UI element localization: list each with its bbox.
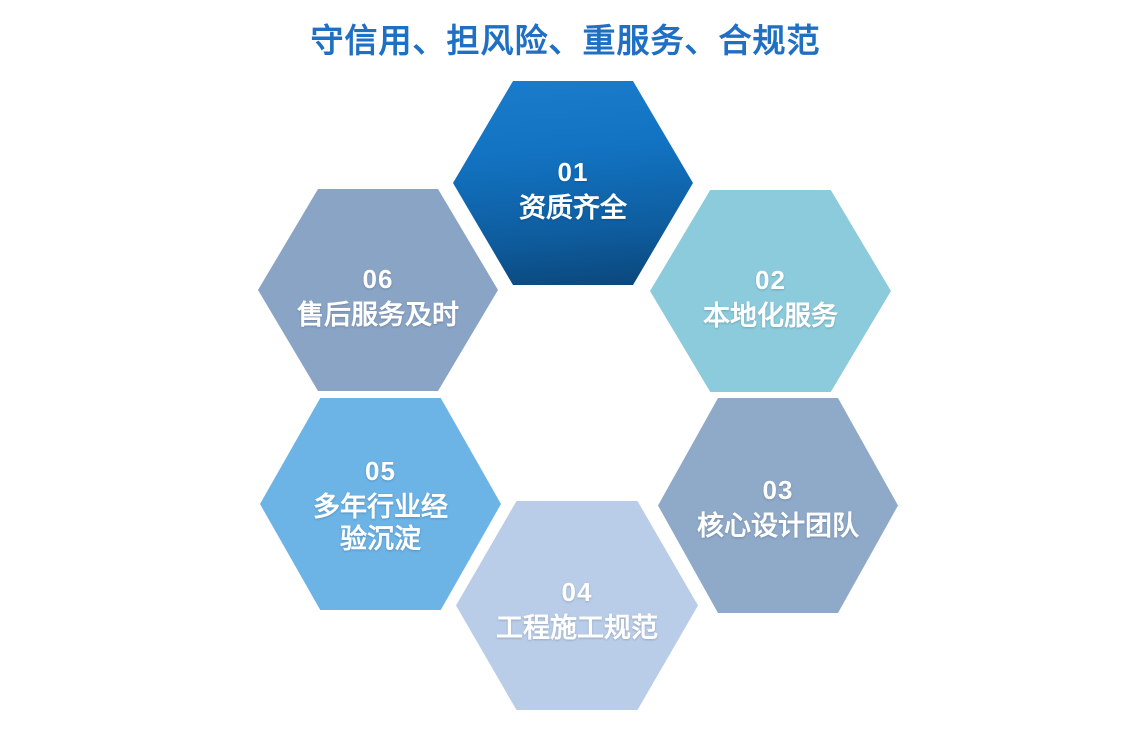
hexagon-item-06[interactable]: 06 售后服务及时: [258, 189, 498, 391]
page-title: 守信用、担风险、重服务、合规范: [0, 14, 1131, 62]
hexagon-number-02: 02: [755, 266, 786, 296]
hexagon-item-05[interactable]: 05 多年行业经 验沉淀: [260, 398, 501, 610]
hexagon-content-02: 02 本地化服务: [650, 266, 891, 332]
hexagon-number-03: 03: [763, 476, 794, 506]
hexagon-content-01: 01 资质齐全: [453, 158, 693, 224]
hexagon-label-04: 工程施工规范: [496, 612, 658, 644]
hexagon-content-05: 05 多年行业经 验沉淀: [260, 457, 501, 556]
hexagon-content-04: 04 工程施工规范: [456, 578, 698, 644]
hexagon-content-06: 06 售后服务及时: [258, 265, 498, 331]
hexagon-number-05: 05: [365, 457, 396, 487]
hexagon-label-01: 资质齐全: [519, 192, 627, 224]
hexagon-number-04: 04: [562, 578, 593, 608]
hexagon-number-06: 06: [363, 265, 394, 295]
hexagon-number-01: 01: [558, 158, 589, 188]
hexagon-item-02[interactable]: 02 本地化服务: [650, 190, 891, 392]
hexagon-label-06: 售后服务及时: [297, 299, 459, 331]
hexagon-content-03: 03 核心设计团队: [658, 476, 898, 542]
hexagon-item-03[interactable]: 03 核心设计团队: [658, 398, 898, 613]
hexagon-label-05: 多年行业经 验沉淀: [313, 491, 448, 556]
hexagon-label-03: 核心设计团队: [697, 510, 859, 542]
hexagon-item-04[interactable]: 04 工程施工规范: [456, 501, 698, 710]
hexagon-item-01[interactable]: 01 资质齐全: [453, 81, 693, 285]
hexagon-label-02: 本地化服务: [703, 300, 838, 332]
slide-canvas: 守信用、担风险、重服务、合规范 01 资质齐全 02 本地化服务 03 核心设计…: [0, 0, 1131, 739]
